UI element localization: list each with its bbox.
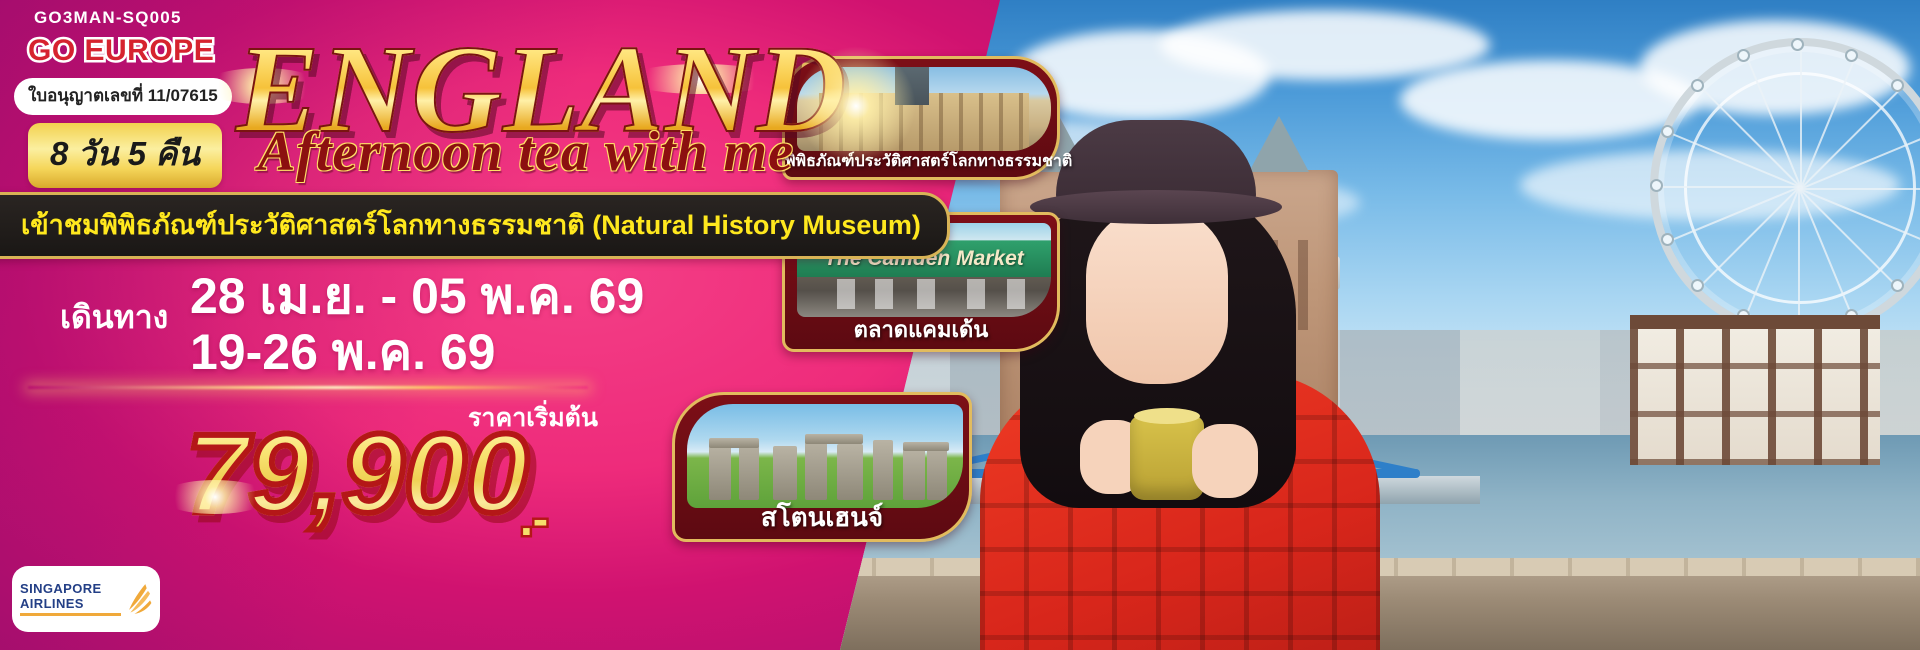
price-suffix: .- (520, 492, 548, 546)
gold-light-streak (28, 386, 588, 389)
licence-number-badge: ใบอนุญาตเลขที่ 11/07615 (14, 78, 232, 115)
stonehenge-stone (773, 446, 797, 500)
title-block: ENGLAND Afternoon tea with me (236, 28, 847, 153)
sparkle-icon (160, 480, 270, 514)
london-eye-pod (1891, 79, 1904, 92)
london-eye-pod (1691, 279, 1704, 292)
london-eye-pod (1650, 179, 1663, 192)
museum-tower-graphic (895, 67, 929, 105)
travel-dates: 28 เม.ย. - 05 พ.ค. 69 19-26 พ.ค. 69 (190, 268, 644, 380)
airline-name-line1: SINGAPORE (20, 581, 102, 596)
hand (1192, 424, 1258, 498)
travel-promo-banner: GO3MAN-SQ005 GO EUROPE ใบอนุญาตเลขที่ 11… (0, 0, 1920, 650)
duration-badge: 8 วัน 5 คืน (28, 123, 222, 188)
airline-name: SINGAPORE AIRLINES (20, 582, 121, 615)
woman-with-tea-photo (960, 120, 1420, 650)
london-eye-spoke (1699, 187, 1800, 288)
stonehenge-stone (709, 444, 731, 500)
london-eye-spoke (1800, 88, 1901, 189)
date-line: 19-26 พ.ค. 69 (190, 324, 644, 380)
stonehenge-stone (873, 440, 893, 500)
london-eye-spoke (1800, 47, 1802, 188)
airline-name-line2: AIRLINES (20, 596, 84, 611)
thumbnail-stonehenge[interactable]: สโตนเฮนจ์ (672, 392, 972, 542)
cloud-icon (1160, 10, 1490, 80)
thumbnail-caption: ตลาดแคมเด้น (785, 312, 1057, 347)
date-line: 28 เม.ย. - 05 พ.ค. 69 (190, 268, 644, 324)
airline-logo: SINGAPORE AIRLINES (12, 566, 160, 632)
london-eye-spoke (1800, 188, 1920, 190)
london-eye-pod (1737, 49, 1750, 62)
london-eye-spoke (1798, 188, 1800, 329)
london-eye-pod (1845, 49, 1858, 62)
london-eye-spoke (1659, 186, 1800, 188)
thumbnail-image (687, 404, 963, 508)
stonehenge-stone (805, 438, 827, 500)
london-eye-spoke (1799, 188, 1900, 289)
page-subtitle: Afternoon tea with me (258, 124, 794, 180)
stonehenge-lintel (805, 434, 863, 444)
london-eye-pod (1791, 38, 1804, 51)
stonehenge-stone (739, 440, 759, 500)
london-eye-spoke (1700, 87, 1801, 188)
stonehenge-stone (903, 448, 925, 500)
london-eye-pod (1661, 125, 1674, 138)
stonehenge-lintel (903, 442, 949, 451)
stonehenge-stone (837, 444, 863, 500)
highlight-bar: เข้าชมพิพิธภัณฑ์ประวัติศาสตร์โลกทางธรรมช… (0, 192, 950, 259)
brand-logo-text: GO EUROPE (28, 34, 214, 68)
face (1086, 206, 1228, 384)
price-value: 79,900 (186, 418, 529, 530)
bucket-hat (1056, 120, 1256, 216)
tudor-building-graphic (1630, 315, 1880, 465)
product-code: GO3MAN-SQ005 (34, 8, 182, 28)
singapore-airlines-bird-icon (125, 575, 152, 623)
travel-label: เดินทาง (60, 292, 168, 343)
london-eye-pod (1891, 279, 1904, 292)
thumbnail-caption: สโตนเฮนจ์ (675, 497, 969, 538)
london-eye-pod (1661, 233, 1674, 246)
stonehenge-lintel (709, 438, 759, 448)
